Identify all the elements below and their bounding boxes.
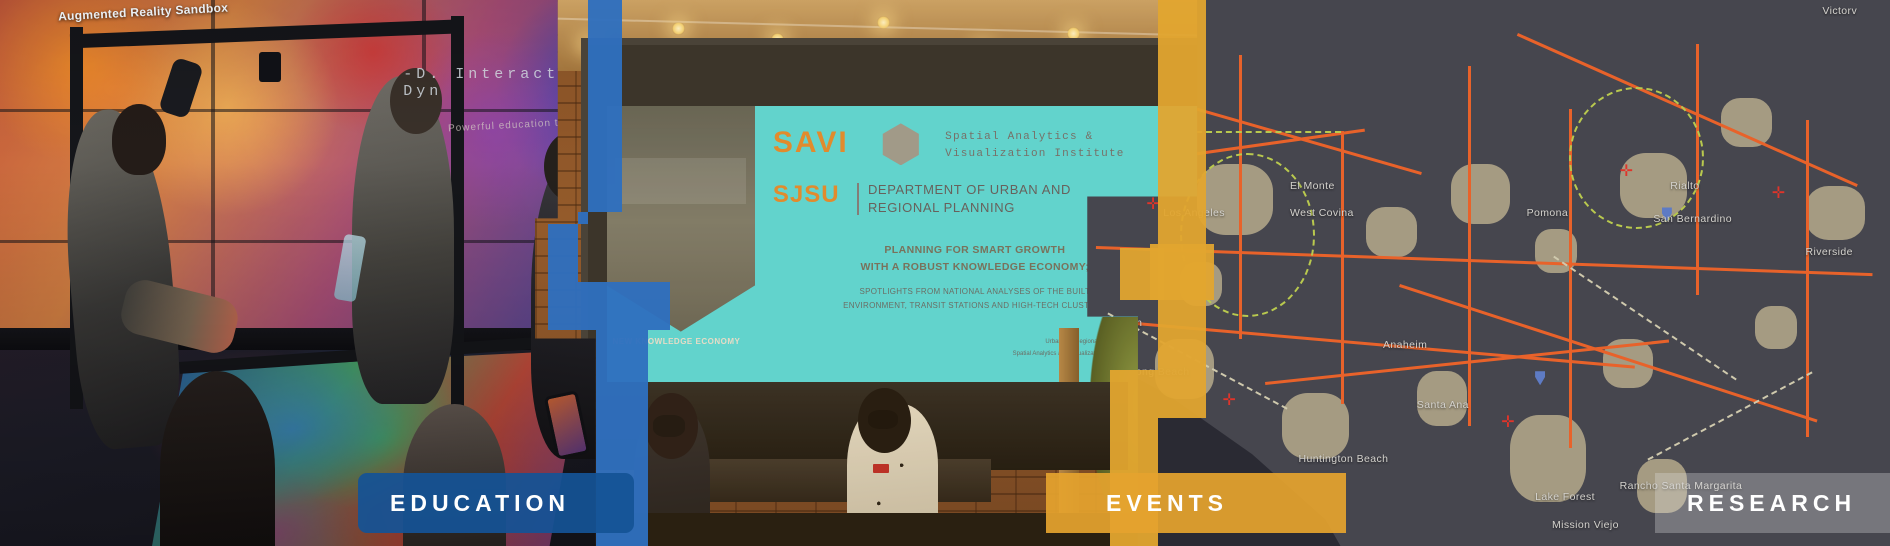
category-label-events[interactable]: EVENTS (1046, 473, 1346, 533)
urban-area (1755, 306, 1797, 350)
category-label-research[interactable]: RESEARCH (1655, 473, 1890, 533)
map-label: Rialto (1670, 180, 1699, 192)
hero-banner: -D. Interactive. Dyn Powerful education … (0, 0, 1890, 546)
map-label: San Bernardino (1653, 213, 1732, 225)
urban-area (1806, 186, 1865, 241)
map-label: El Monte (1290, 180, 1335, 192)
map-label: Lake Forest (1535, 491, 1595, 503)
map-label: Anaheim (1383, 339, 1427, 351)
freeway (1341, 131, 1344, 404)
airport-icon: ✛ (1222, 393, 1235, 409)
map-label: Santa Ana (1417, 399, 1469, 411)
map-label: Huntington Beach (1299, 453, 1389, 465)
category-label-text: EVENTS (1106, 490, 1228, 517)
map-label: Riverside (1806, 246, 1853, 258)
map-label: Long Beach (1130, 366, 1190, 378)
category-label-text: EDUCATION (390, 490, 570, 517)
category-label-education[interactable]: EDUCATION (358, 473, 634, 533)
county-boundary (1647, 371, 1812, 460)
airport-icon: ✛ (1501, 415, 1514, 431)
map-label: Victorv (1822, 5, 1857, 17)
study-boundary (1569, 87, 1704, 229)
map-label: West Covina (1290, 207, 1354, 219)
airport-icon: ✛ (1620, 164, 1633, 180)
map-label: Pomona (1527, 207, 1569, 219)
airport-icon: ✛ (1772, 186, 1785, 202)
urban-area (1282, 393, 1350, 459)
urban-area (1510, 415, 1586, 502)
airport-icon: ✛ (1146, 197, 1159, 213)
freeway (1806, 120, 1809, 437)
map-label: Los Angeles (1163, 207, 1225, 219)
map-label: Mission Viejo (1552, 519, 1619, 531)
freeway (1468, 66, 1471, 426)
urban-area (1721, 98, 1772, 147)
urban-area (1366, 207, 1417, 256)
urban-area (1451, 164, 1510, 224)
category-label-text: RESEARCH (1687, 490, 1856, 517)
map-pin-icon (1535, 371, 1545, 385)
study-boundary (1180, 153, 1315, 317)
